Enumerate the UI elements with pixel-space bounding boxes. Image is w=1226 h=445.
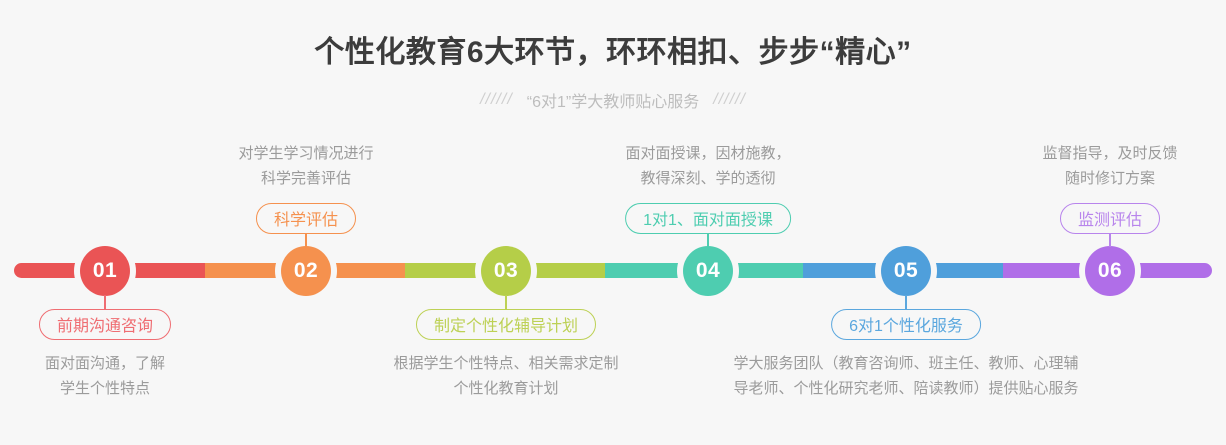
description-line: 教得深刻、学的透彻 — [625, 166, 790, 191]
timeline-node-02[interactable]: 02 — [275, 240, 337, 302]
description-line: 对学生学习情况进行 — [238, 141, 373, 166]
description-line: 面对面沟通，了解 — [45, 351, 165, 376]
step-pill-05[interactable]: 6对1个性化服务 — [831, 309, 981, 340]
node-number-label-03: 03 — [481, 246, 531, 296]
node-stem-03 — [505, 295, 507, 309]
subtitle-text: “6对1”学大教师贴心服务 — [527, 88, 699, 112]
node-stem-04 — [707, 233, 709, 247]
subtitle-row: ////// “6对1”学大教师贴心服务 ////// — [0, 88, 1226, 112]
node-number-label-04: 04 — [683, 246, 733, 296]
description-line: 根据学生个性特点、相关需求定制 — [393, 351, 618, 376]
step-description-01: 面对面沟通，了解学生个性特点 — [45, 351, 165, 401]
page-title: 个性化教育6大环节，环环相扣、步步“精心” — [0, 27, 1226, 71]
description-line: 学大服务团队（教育咨询师、班主任、教师、心理辅 — [733, 351, 1078, 376]
timeline-node-01[interactable]: 01 — [74, 240, 136, 302]
description-line: 面对面授课，因材施教， — [625, 141, 790, 166]
step-pill-04[interactable]: 1对1、面对面授课 — [625, 203, 791, 234]
step-pill-02[interactable]: 科学评估 — [256, 203, 356, 234]
node-stem-06 — [1109, 233, 1111, 247]
timeline-node-03[interactable]: 03 — [475, 240, 537, 302]
description-line: 导老师、个性化研究老师、陪读教师）提供贴心服务 — [733, 376, 1078, 401]
node-number-label-05: 05 — [881, 246, 931, 296]
step-pill-01[interactable]: 前期沟通咨询 — [39, 309, 171, 340]
timeline-node-04[interactable]: 04 — [677, 240, 739, 302]
node-number-label-06: 06 — [1085, 246, 1135, 296]
slashes-right-icon: ////// — [713, 91, 746, 109]
node-number-label-02: 02 — [281, 246, 331, 296]
step-description-02: 对学生学习情况进行科学完善评估 — [238, 141, 373, 191]
step-description-06: 监督指导，及时反馈随时修订方案 — [1042, 141, 1177, 191]
description-line: 个性化教育计划 — [393, 376, 618, 401]
step-pill-06[interactable]: 监测评估 — [1060, 203, 1160, 234]
infographic-canvas: 个性化教育6大环节，环环相扣、步步“精心” ////// “6对1”学大教师贴心… — [0, 0, 1226, 445]
timeline-bar — [14, 263, 1212, 278]
step-description-04: 面对面授课，因材施教，教得深刻、学的透彻 — [625, 141, 790, 191]
step-pill-03[interactable]: 制定个性化辅导计划 — [416, 309, 596, 340]
timeline-node-06[interactable]: 06 — [1079, 240, 1141, 302]
node-stem-01 — [104, 295, 106, 309]
description-line: 学生个性特点 — [45, 376, 165, 401]
node-stem-02 — [305, 233, 307, 247]
description-line: 随时修订方案 — [1042, 166, 1177, 191]
step-description-05: 学大服务团队（教育咨询师、班主任、教师、心理辅导老师、个性化研究老师、陪读教师）… — [733, 351, 1078, 401]
timeline-node-05[interactable]: 05 — [875, 240, 937, 302]
description-line: 科学完善评估 — [238, 166, 373, 191]
step-description-03: 根据学生个性特点、相关需求定制个性化教育计划 — [393, 351, 618, 401]
node-stem-05 — [905, 295, 907, 309]
node-number-label-01: 01 — [80, 246, 130, 296]
slashes-left-icon: ////// — [480, 91, 513, 109]
description-line: 监督指导，及时反馈 — [1042, 141, 1177, 166]
